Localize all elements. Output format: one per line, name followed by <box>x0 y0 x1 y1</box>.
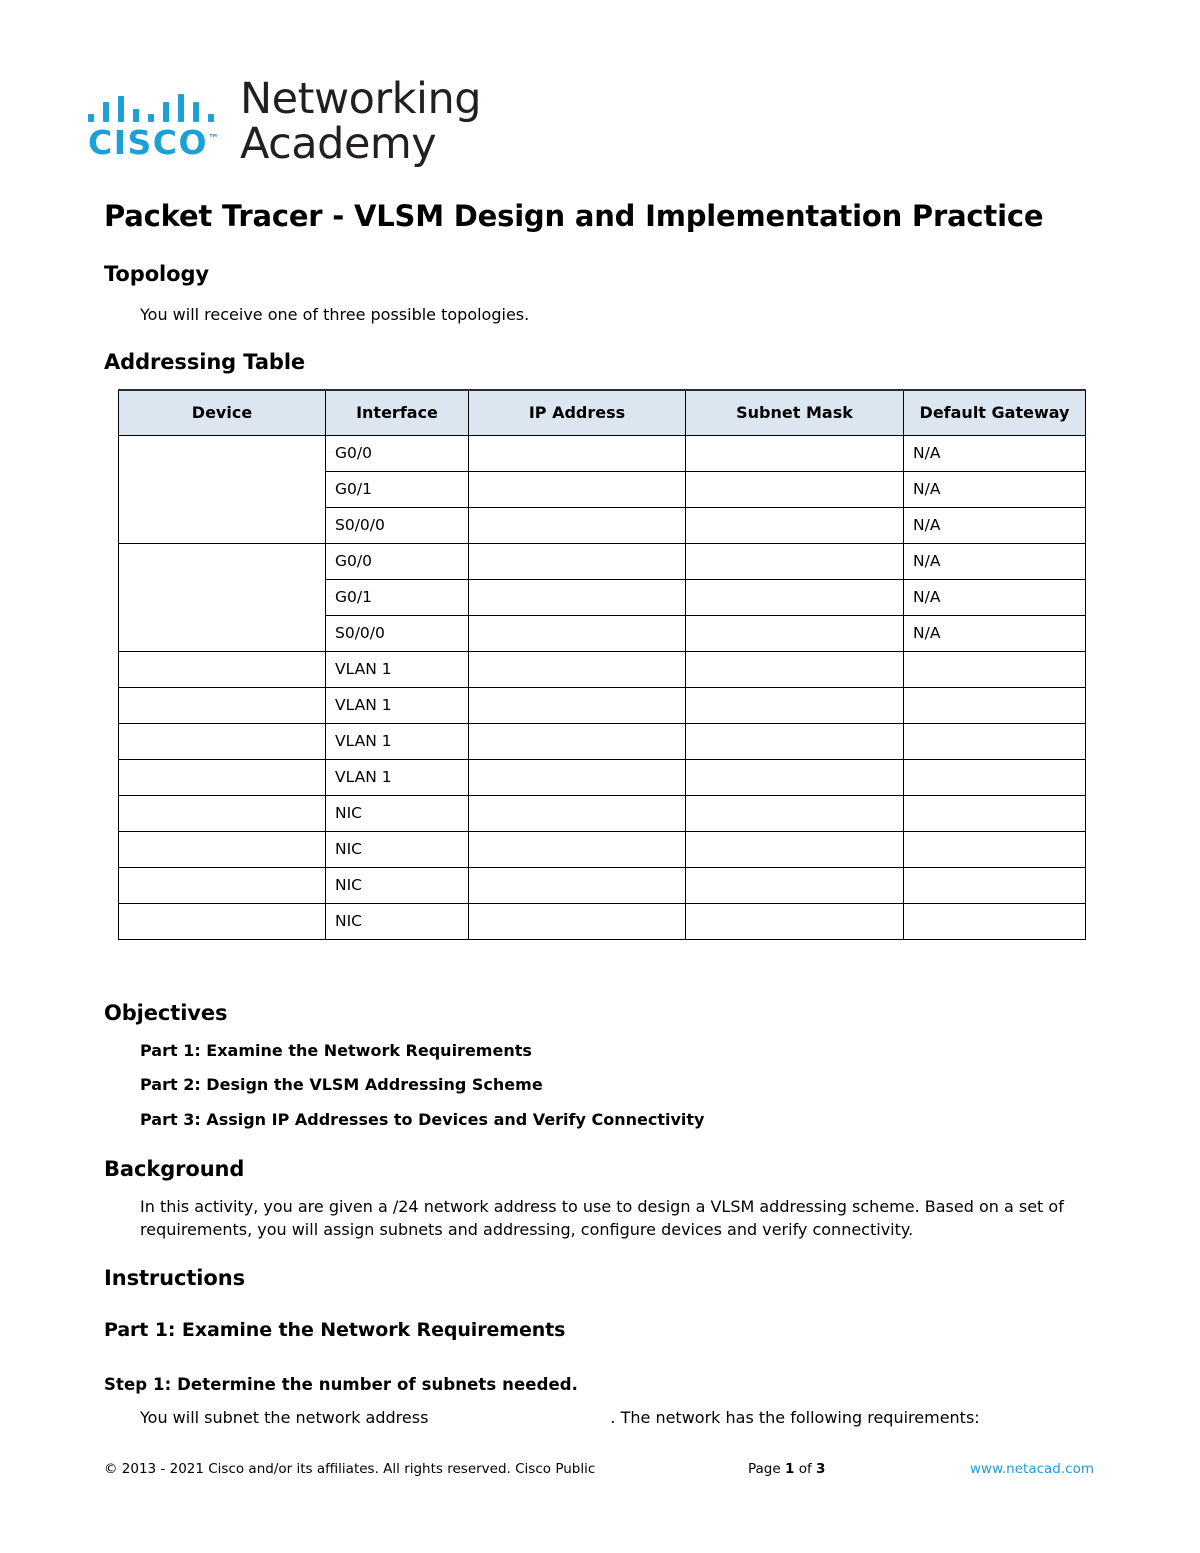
table-row: VLAN 1 <box>119 651 1086 687</box>
step1-text-before: You will subnet the network address <box>140 1408 428 1427</box>
cell-subnet-mask[interactable] <box>686 435 904 471</box>
section-heading-addressing-table: Addressing Table <box>104 350 305 374</box>
cell-subnet-mask[interactable] <box>686 831 904 867</box>
cell-interface: G0/1 <box>326 579 469 615</box>
cell-interface: VLAN 1 <box>326 651 469 687</box>
cell-interface: S0/0/0 <box>326 507 469 543</box>
cell-default-gateway[interactable] <box>904 795 1086 831</box>
cell-ip-address[interactable] <box>469 543 686 579</box>
cell-default-gateway[interactable] <box>904 723 1086 759</box>
cell-device[interactable] <box>119 723 326 759</box>
cell-ip-address[interactable] <box>469 651 686 687</box>
cell-device[interactable] <box>119 543 326 651</box>
cell-subnet-mask[interactable] <box>686 471 904 507</box>
cell-interface: NIC <box>326 795 469 831</box>
page-title: Packet Tracer - VLSM Design and Implemen… <box>104 199 1043 233</box>
cell-default-gateway[interactable]: N/A <box>904 507 1086 543</box>
section-heading-topology: Topology <box>104 262 209 286</box>
footer-total-pages: 3 <box>816 1461 825 1477</box>
step1-paragraph: You will subnet the network address. The… <box>140 1406 1100 1429</box>
cell-subnet-mask[interactable] <box>686 687 904 723</box>
cell-ip-address[interactable] <box>469 795 686 831</box>
cell-ip-address[interactable] <box>469 867 686 903</box>
cell-interface: NIC <box>326 903 469 939</box>
table-row: VLAN 1 <box>119 723 1086 759</box>
cell-interface: VLAN 1 <box>326 723 469 759</box>
step-heading-step1: Step 1: Determine the number of subnets … <box>104 1375 578 1394</box>
cell-subnet-mask[interactable] <box>686 867 904 903</box>
logo-bar-5 <box>163 102 169 122</box>
logo-bar-3 <box>133 109 139 122</box>
logo-bar-7 <box>193 102 199 122</box>
cell-default-gateway[interactable] <box>904 903 1086 939</box>
cell-device[interactable] <box>119 651 326 687</box>
cisco-wordmark: CISCO™ <box>88 126 219 159</box>
cell-subnet-mask[interactable] <box>686 507 904 543</box>
cell-default-gateway[interactable]: N/A <box>904 579 1086 615</box>
cell-device[interactable] <box>119 867 326 903</box>
table-header-row: Device Interface IP Address Subnet Mask … <box>119 390 1086 435</box>
cell-device[interactable] <box>119 687 326 723</box>
section-heading-objectives: Objectives <box>104 1001 227 1025</box>
cell-default-gateway[interactable] <box>904 651 1086 687</box>
addressing-table-body: G0/0N/AG0/1N/AS0/0/0N/AG0/0N/AG0/1N/AS0/… <box>119 435 1086 939</box>
cell-ip-address[interactable] <box>469 615 686 651</box>
table-row: G0/0N/A <box>119 543 1086 579</box>
cell-subnet-mask[interactable] <box>686 903 904 939</box>
cell-interface: G0/1 <box>326 471 469 507</box>
column-header-subnet-mask: Subnet Mask <box>686 390 904 435</box>
cell-interface: NIC <box>326 867 469 903</box>
logo-bar-0 <box>88 114 94 122</box>
cell-default-gateway[interactable] <box>904 759 1086 795</box>
cell-default-gateway[interactable] <box>904 867 1086 903</box>
table-row: NIC <box>119 831 1086 867</box>
page-footer: © 2013 - 2021 Cisco and/or its affiliate… <box>104 1461 1094 1481</box>
logo-bar-4 <box>148 114 154 122</box>
cell-default-gateway[interactable]: N/A <box>904 471 1086 507</box>
addressing-table-head: Device Interface IP Address Subnet Mask … <box>119 390 1086 435</box>
cell-ip-address[interactable] <box>469 435 686 471</box>
cell-device[interactable] <box>119 795 326 831</box>
cell-ip-address[interactable] <box>469 723 686 759</box>
logo-bar-6 <box>178 94 184 122</box>
cell-subnet-mask[interactable] <box>686 795 904 831</box>
objective-item-part1: Part 1: Examine the Network Requirements <box>140 1041 532 1060</box>
cell-subnet-mask[interactable] <box>686 543 904 579</box>
table-row: G0/0N/A <box>119 435 1086 471</box>
cell-device[interactable] <box>119 903 326 939</box>
cell-interface: G0/0 <box>326 435 469 471</box>
cell-interface: VLAN 1 <box>326 759 469 795</box>
cell-interface: S0/0/0 <box>326 615 469 651</box>
footer-current-page: 1 <box>785 1461 794 1477</box>
cell-interface: VLAN 1 <box>326 687 469 723</box>
table-row: NIC <box>119 867 1086 903</box>
objective-item-part2: Part 2: Design the VLSM Addressing Schem… <box>140 1075 543 1094</box>
logo-bar-2 <box>118 96 124 122</box>
cell-default-gateway[interactable]: N/A <box>904 543 1086 579</box>
cell-ip-address[interactable] <box>469 687 686 723</box>
background-paragraph: In this activity, you are given a /24 ne… <box>140 1195 1095 1241</box>
column-header-device: Device <box>119 390 326 435</box>
cell-ip-address[interactable] <box>469 759 686 795</box>
cell-default-gateway[interactable] <box>904 831 1086 867</box>
cisco-bridge-icon <box>88 88 224 122</box>
column-header-ip-address: IP Address <box>469 390 686 435</box>
cell-subnet-mask[interactable] <box>686 579 904 615</box>
column-header-default-gateway: Default Gateway <box>904 390 1086 435</box>
column-header-interface: Interface <box>326 390 469 435</box>
cell-ip-address[interactable] <box>469 903 686 939</box>
subsection-heading-part1: Part 1: Examine the Network Requirements <box>104 1319 565 1341</box>
cell-ip-address[interactable] <box>469 507 686 543</box>
step1-text-after: . The network has the following requirem… <box>610 1408 979 1427</box>
cell-subnet-mask[interactable] <box>686 615 904 651</box>
cell-device[interactable] <box>119 435 326 543</box>
logo-line-academy: Academy <box>240 123 436 167</box>
cell-ip-address[interactable] <box>469 579 686 615</box>
cell-default-gateway[interactable] <box>904 687 1086 723</box>
cell-default-gateway[interactable]: N/A <box>904 615 1086 651</box>
cell-device[interactable] <box>119 831 326 867</box>
cell-subnet-mask[interactable] <box>686 651 904 687</box>
cell-ip-address[interactable] <box>469 831 686 867</box>
document-page: CISCO™ Networking Academy Packet Tracer … <box>0 0 1200 1553</box>
addressing-table: Device Interface IP Address Subnet Mask … <box>118 389 1086 940</box>
cell-interface: NIC <box>326 831 469 867</box>
footer-page-number: Page 1 of 3 <box>748 1461 825 1477</box>
logo-bar-8 <box>208 114 214 122</box>
section-heading-background: Background <box>104 1157 244 1181</box>
table-row: VLAN 1 <box>119 687 1086 723</box>
footer-copyright: © 2013 - 2021 Cisco and/or its affiliate… <box>104 1461 595 1477</box>
logo-line-networking: Networking <box>240 78 481 122</box>
objective-item-part3: Part 3: Assign IP Addresses to Devices a… <box>140 1110 704 1129</box>
table-row: NIC <box>119 795 1086 831</box>
table-row: NIC <box>119 903 1086 939</box>
cell-device[interactable] <box>119 759 326 795</box>
trademark-icon: ™ <box>208 132 219 145</box>
cell-subnet-mask[interactable] <box>686 723 904 759</box>
cell-interface: G0/0 <box>326 543 469 579</box>
logo-bar-1 <box>103 102 109 122</box>
footer-netacad-link[interactable]: www.netacad.com <box>970 1461 1094 1477</box>
section-heading-instructions: Instructions <box>104 1266 245 1290</box>
footer-page-middle: of <box>799 1461 812 1477</box>
footer-page-prefix: Page <box>748 1461 781 1477</box>
cell-subnet-mask[interactable] <box>686 759 904 795</box>
cisco-wordmark-text: CISCO <box>88 123 208 162</box>
table-row: VLAN 1 <box>119 759 1086 795</box>
cell-default-gateway[interactable]: N/A <box>904 435 1086 471</box>
topology-note-text: You will receive one of three possible t… <box>140 303 529 326</box>
cell-ip-address[interactable] <box>469 471 686 507</box>
cisco-networking-academy-logo: CISCO™ Networking Academy <box>88 78 508 173</box>
